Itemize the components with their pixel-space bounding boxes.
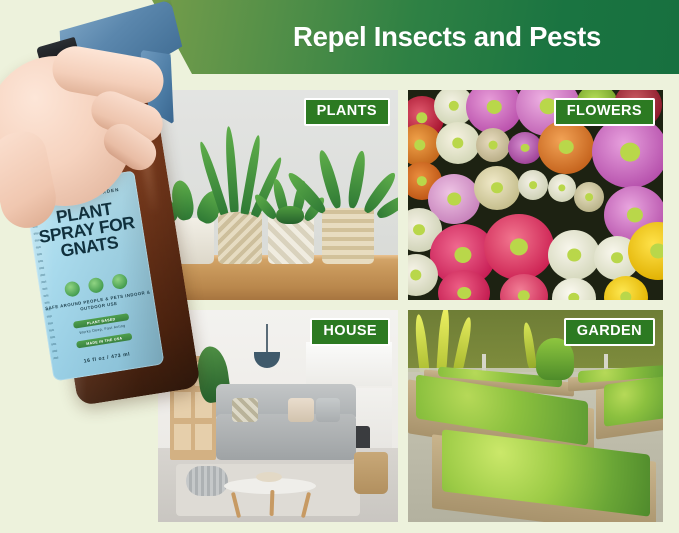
page-title: Repel Insects and Pests <box>232 0 662 74</box>
flower-bloom <box>436 122 480 164</box>
tile-garden: GARDEN <box>408 310 663 522</box>
floor-pouf <box>186 466 228 496</box>
shelf-cell <box>174 424 191 450</box>
shelf-cell <box>195 424 212 450</box>
kitchen-upper-cabinets <box>306 342 392 386</box>
flower-bloom <box>574 182 604 212</box>
plant-pot <box>218 212 262 264</box>
tile-badge-house: HOUSE <box>310 318 390 346</box>
product-marketing-image: PLANTS FLOWERS <box>0 0 679 533</box>
flower-bloom <box>518 170 548 200</box>
pendant-lamp-cord <box>266 324 268 354</box>
bed-planting <box>604 375 663 427</box>
flower-bloom <box>476 128 510 162</box>
flower-bloom <box>508 132 542 164</box>
laundry-basket <box>354 452 388 494</box>
label-badge-made-in-usa: MADE IN THE USA <box>76 333 132 349</box>
plant-pot <box>322 208 374 264</box>
tile-badge-flowers: FLOWERS <box>554 98 655 126</box>
plant-icon <box>63 281 80 298</box>
flower-bloom <box>484 214 554 280</box>
fruit-bowl <box>256 472 282 482</box>
flower-bloom <box>592 116 663 188</box>
throw-pillow <box>316 398 340 422</box>
flower-bloom <box>538 120 594 174</box>
tile-badge-plants: PLANTS <box>304 98 390 126</box>
plant-foliage <box>276 206 304 224</box>
throw-pillow <box>288 398 314 422</box>
flower-bloom <box>474 166 520 210</box>
throw-pillow <box>232 398 258 422</box>
leaf-icon <box>87 277 104 294</box>
shield-icon <box>111 273 128 290</box>
flower-bloom <box>548 230 600 280</box>
tile-badge-garden: GARDEN <box>564 318 655 346</box>
label-volume: 16 fl oz / 473 ml <box>51 346 163 369</box>
product-spray-bottle: KATE'S HOME & GARDEN PLANT SPRAY FOR GNA… <box>0 12 209 402</box>
tile-flowers: FLOWERS <box>408 90 663 300</box>
flower-bloom <box>548 174 576 202</box>
